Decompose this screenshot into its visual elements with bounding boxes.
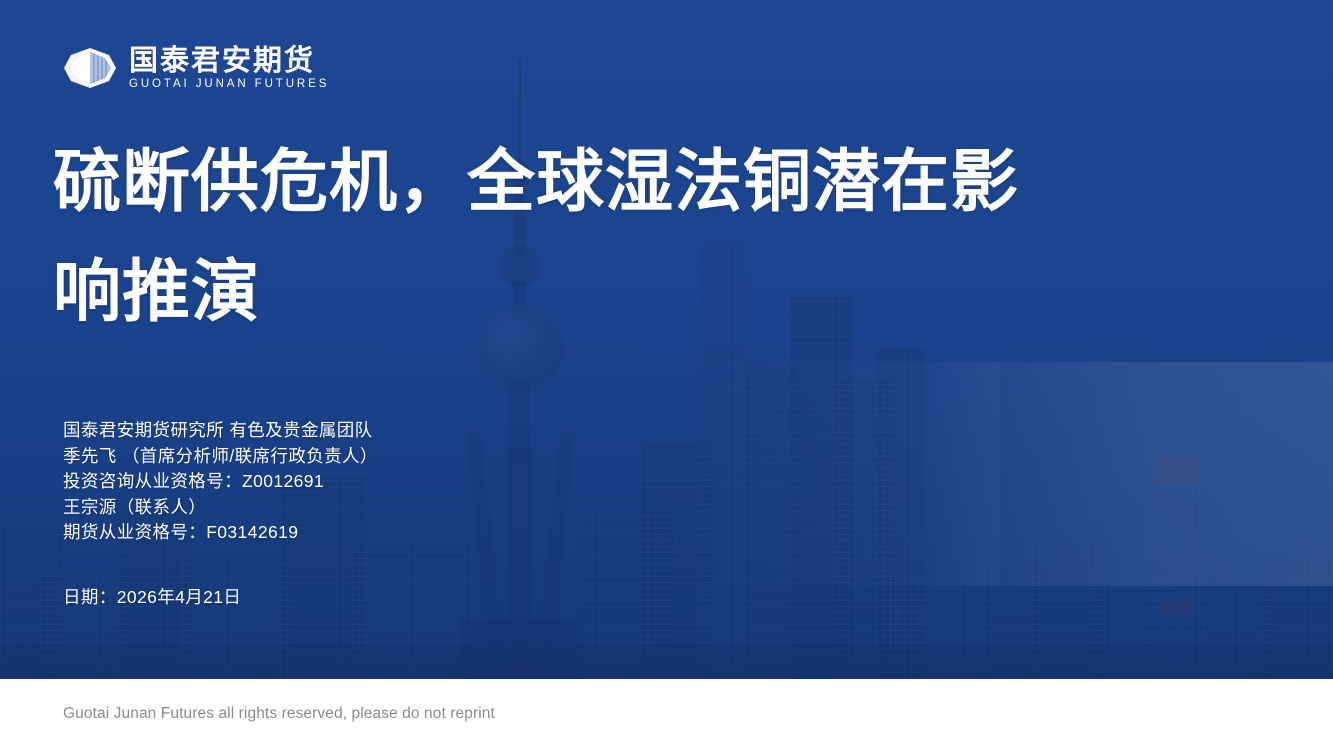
page-title-line-2: 响推演: [53, 238, 1293, 348]
waterfront-strip: [0, 645, 1333, 679]
presentation-title-slide: 国泰君安期货 GUOTAI JUNAN FUTURES 硫断供危机，全球湿法铜潜…: [0, 0, 1333, 750]
author-line-team: 国泰君安期货研究所 有色及贵金属团队: [63, 418, 378, 444]
author-line-analyst-license: 投资咨询从业资格号：Z0012691: [63, 469, 378, 495]
building-signage: [1160, 599, 1196, 615]
background-haze-band: [925, 362, 1333, 586]
footer-bar: Guotai Junan Futures all rights reserved…: [0, 679, 1333, 750]
page-title: 硫断供危机，全球湿法铜潜在影 响推演: [53, 128, 1293, 348]
author-line-contact: 王宗源（联系人）: [63, 495, 378, 521]
author-line-analyst: 季先飞 （首席分析师/联席行政负责人）: [63, 444, 378, 470]
guotai-junan-hexagon-mark: [63, 47, 117, 89]
logo-name-cn: 国泰君安期货: [129, 46, 329, 76]
company-logo: 国泰君安期货 GUOTAI JUNAN FUTURES: [63, 44, 329, 92]
presentation-date: 日期：2026年4月21日: [63, 584, 241, 609]
author-credentials-block: 国泰君安期货研究所 有色及贵金属团队 季先飞 （首席分析师/联席行政负责人） 投…: [63, 418, 378, 546]
footer-copyright: Guotai Junan Futures all rights reserved…: [63, 705, 495, 723]
page-title-line-1: 硫断供危机，全球湿法铜潜在影: [53, 128, 1293, 238]
author-line-contact-license: 期货从业资格号：F03142619: [63, 520, 378, 546]
logo-wordmark: 国泰君安期货 GUOTAI JUNAN FUTURES: [129, 45, 329, 92]
logo-name-en: GUOTAI JUNAN FUTURES: [129, 77, 329, 91]
